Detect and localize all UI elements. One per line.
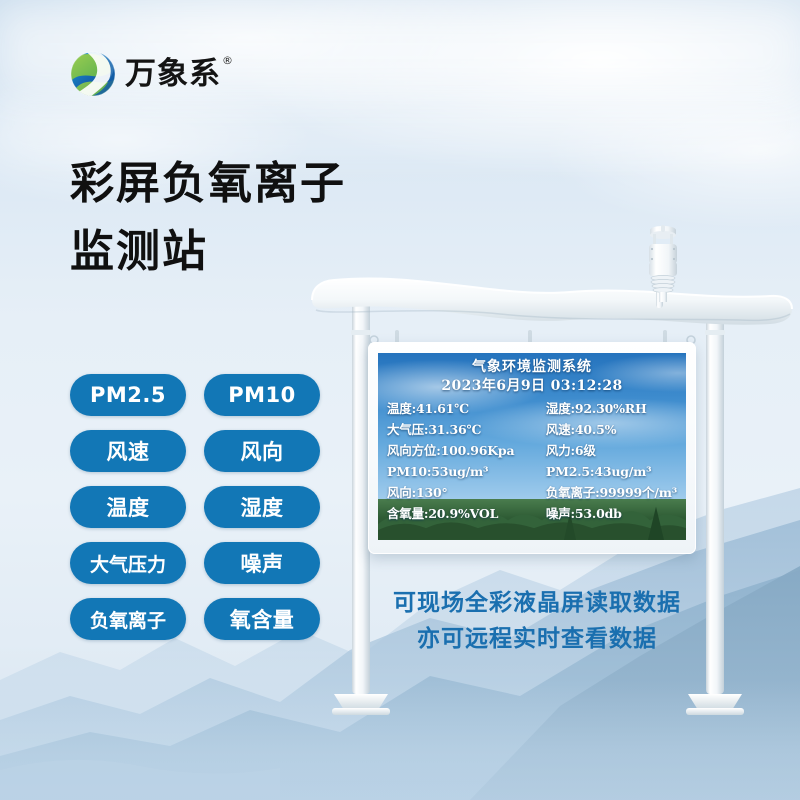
- caption-line-1: 可现场全彩液晶屏读取数据: [382, 586, 692, 622]
- feature-pill-pm25[interactable]: PM2.5: [70, 374, 186, 416]
- screen-datetime: 2023年6月9日 03:12:28: [387, 378, 677, 396]
- reading-wind-force: 风力:6级: [532, 441, 677, 460]
- weather-sensor-icon: [641, 222, 685, 302]
- feature-pill-oxygen-content[interactable]: 氧含量: [204, 598, 320, 640]
- reading-wind-speed: 风速:40.5%: [532, 420, 677, 439]
- reading-noise: 噪声:53.0db: [532, 504, 677, 523]
- headline-line-1: 彩屏负氧离子: [70, 150, 346, 218]
- reading-neg-oxygen-ion: 负氧离子:99999个/m³: [532, 483, 677, 502]
- brand-name-text: 万象系: [125, 56, 221, 92]
- globe-swirl-icon: [68, 48, 118, 100]
- feature-pill-neg-oxygen-ion[interactable]: 负氧离子: [70, 598, 186, 640]
- reading-wind-direction: 风向:130°: [387, 483, 528, 502]
- feature-pill-list: PM2.5 PM10 风速 风向 温度 湿度 大气压力 噪声 负氧离子 氧含量: [70, 374, 320, 640]
- reading-oxygen-content: 含氧量:20.9%VOL: [387, 504, 528, 523]
- lcd-screen: 气象环境监测系统 2023年6月9日 03:12:28 温度:41.61℃ 湿度…: [378, 353, 686, 540]
- registered-mark: ®: [222, 55, 234, 66]
- feature-pill-noise[interactable]: 噪声: [204, 542, 320, 584]
- reading-air-pressure: 大气压:31.36℃: [387, 420, 528, 439]
- lcd-display-panel: 气象环境监测系统 2023年6月9日 03:12:28 温度:41.61℃ 湿度…: [368, 342, 696, 554]
- feature-pill-wind-dir[interactable]: 风向: [204, 430, 320, 472]
- brand-logo: 万象系 ®: [68, 48, 221, 100]
- reading-pm25: PM2.5:43ug/m³: [532, 462, 677, 481]
- feature-pill-air-pressure[interactable]: 大气压力: [70, 542, 186, 584]
- caption-line-2: 亦可远程实时查看数据: [382, 622, 692, 658]
- reading-wind-bearing: 风向方位:100.96Kpa: [387, 441, 528, 460]
- reading-humidity: 湿度:92.30%RH: [532, 399, 677, 418]
- reading-temperature: 温度:41.61℃: [387, 399, 528, 418]
- page-title: 彩屏负氧离子 监测站: [70, 150, 346, 286]
- caption-block: 可现场全彩液晶屏读取数据 亦可远程实时查看数据: [382, 586, 692, 657]
- reading-pm10: PM10:53ug/m³: [387, 462, 528, 481]
- feature-pill-wind-speed[interactable]: 风速: [70, 430, 186, 472]
- headline-line-2: 监测站: [70, 218, 346, 286]
- poster-canvas: 万象系 ® 彩屏负氧离子 监测站 PM2.5 PM10 风速 风向 温度 湿度 …: [0, 0, 800, 800]
- screen-content: 气象环境监测系统 2023年6月9日 03:12:28 温度:41.61℃ 湿度…: [378, 353, 686, 540]
- cloud-band-lower: [0, 96, 800, 150]
- brand-name: 万象系 ®: [125, 59, 221, 90]
- screen-reading-grid: 温度:41.61℃ 湿度:92.30%RH 大气压:31.36℃ 风速:40.5…: [387, 399, 677, 523]
- screen-title: 气象环境监测系统: [387, 359, 677, 377]
- feature-pill-temperature[interactable]: 温度: [70, 486, 186, 528]
- feature-pill-pm10[interactable]: PM10: [204, 374, 320, 416]
- bottom-haze: [0, 680, 800, 800]
- feature-pill-humidity[interactable]: 湿度: [204, 486, 320, 528]
